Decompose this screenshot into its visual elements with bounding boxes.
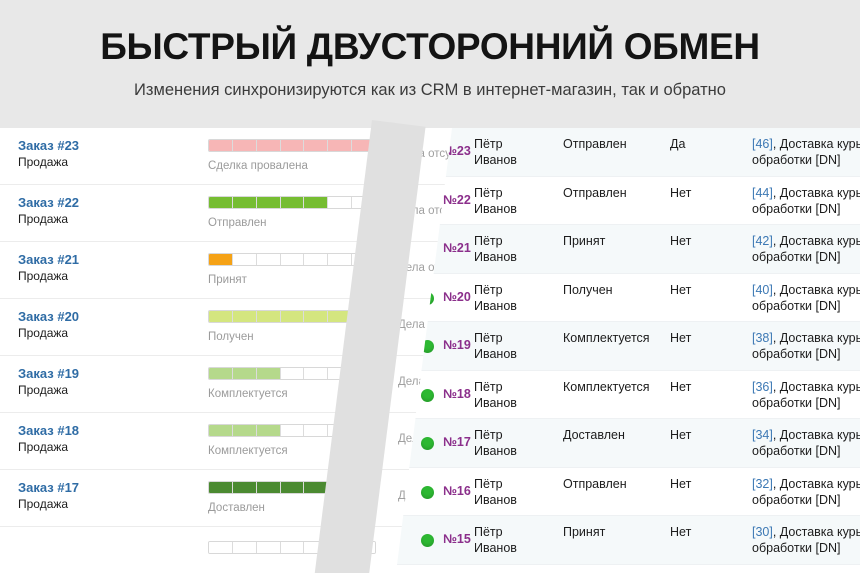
shop-order-customer: ПётрИванов <box>474 185 517 217</box>
customer-last-name: Иванов <box>474 347 517 361</box>
shop-order-paid: Нет <box>670 379 691 395</box>
crm-deal-type: Продажа <box>18 497 79 512</box>
delivery-line-2: обработки [DN] <box>752 540 860 556</box>
crm-stage-progress[interactable]: Сделка провалена <box>208 139 376 173</box>
customer-first-name: Пётр <box>474 428 503 442</box>
progress-segment <box>233 482 257 493</box>
progress-segment <box>304 425 328 436</box>
customer-first-name: Пётр <box>474 283 503 297</box>
shop-order-number[interactable]: №20 <box>443 290 471 305</box>
customer-first-name: Пётр <box>474 186 503 200</box>
progress-segment <box>304 140 328 151</box>
progress-segment <box>281 311 305 322</box>
progress-segment <box>233 140 257 151</box>
progress-segment <box>233 425 257 436</box>
delivery-index[interactable]: [38] <box>752 331 773 345</box>
shop-order-number[interactable]: №18 <box>443 387 471 402</box>
shop-order-number[interactable]: №16 <box>443 484 471 499</box>
shop-order-paid: Нет <box>670 524 691 540</box>
delivery-index[interactable]: [40] <box>752 283 773 297</box>
delivery-line-1: , Доставка курьером в течение 1 дня посл… <box>773 186 860 200</box>
progress-segment <box>328 254 352 265</box>
customer-last-name: Иванов <box>474 202 517 216</box>
delivery-line-2: обработки [DN] <box>752 492 860 508</box>
progress-segment <box>233 542 257 553</box>
delivery-index[interactable]: [34] <box>752 428 773 442</box>
customer-last-name: Иванов <box>474 153 517 167</box>
crm-deal-identity: Заказ #20Продажа <box>18 309 79 341</box>
delivery-line-1: , Доставка курьером в течение 1 дня посл… <box>773 283 860 297</box>
shop-order-number[interactable]: №22 <box>443 193 471 208</box>
progress-segment <box>304 311 328 322</box>
delivery-line-2: обработки [DN] <box>752 249 860 265</box>
delivery-line-1: , Доставка курьером в течение 1 дня посл… <box>773 380 860 394</box>
crm-deal-type: Продажа <box>18 440 79 455</box>
progress-segment <box>209 425 233 436</box>
order-status-dot-icon <box>421 437 434 450</box>
delivery-line-2: обработки [DN] <box>752 443 860 459</box>
progress-segment <box>281 542 305 553</box>
progress-segment <box>209 542 233 553</box>
delivery-index[interactable]: [30] <box>752 525 773 539</box>
page-title: БЫСТРЫЙ ДВУСТОРОННИЙ ОБМЕН <box>100 26 760 68</box>
crm-deal-identity: Заказ #22Продажа <box>18 195 79 227</box>
shop-order-paid: Нет <box>670 330 691 346</box>
order-status-dot-icon <box>421 534 434 547</box>
delivery-line-1: , Доставка курьером в течение 1 дня посл… <box>773 477 860 491</box>
crm-deal-row[interactable]: Заказ #19ПродажаКомплектуетсяДела отсутс… <box>0 356 470 413</box>
shop-order-status: Комплектуется <box>563 330 650 346</box>
shop-order-delivery: [32], Доставка курьером в течение 1 дня … <box>752 476 860 508</box>
progress-segment <box>233 311 257 322</box>
shop-order-delivery: [46], Доставка курьером в течение 1 дня … <box>752 136 860 168</box>
order-status-dot-icon <box>421 389 434 402</box>
crm-deal-link[interactable]: Заказ #22 <box>18 195 79 211</box>
customer-last-name: Иванов <box>474 299 517 313</box>
shop-order-customer: ПётрИванов <box>474 476 517 508</box>
customer-last-name: Иванов <box>474 444 517 458</box>
progress-segment <box>233 197 257 208</box>
progress-segment <box>281 254 305 265</box>
shop-order-delivery: [40], Доставка курьером в течение 1 дня … <box>752 282 860 314</box>
delivery-index[interactable]: [42] <box>752 234 773 248</box>
progress-segment <box>257 197 281 208</box>
crm-deal-link[interactable]: Заказ #18 <box>18 423 79 439</box>
crm-deal-link[interactable]: Заказ #23 <box>18 138 79 154</box>
crm-deal-identity: Заказ #18Продажа <box>18 423 79 455</box>
shop-order-status: Отправлен <box>563 185 627 201</box>
delivery-line-1: , Доставка курьером в течение 1 дня посл… <box>773 137 860 151</box>
shop-order-paid: Да <box>670 136 685 152</box>
delivery-line-2: обработки [DN] <box>752 395 860 411</box>
progress-bar <box>208 196 376 209</box>
page-subtitle: Изменения синхронизируются как из CRM в … <box>134 80 726 100</box>
progress-segment <box>257 542 281 553</box>
crm-deal-type: Продажа <box>18 155 79 170</box>
progress-segment <box>281 140 305 151</box>
delivery-index[interactable]: [46] <box>752 137 773 151</box>
shop-order-customer: ПётрИванов <box>474 379 517 411</box>
progress-segment <box>304 254 328 265</box>
customer-first-name: Пётр <box>474 477 503 491</box>
shop-order-delivery: [44], Доставка курьером в течение 1 дня … <box>752 185 860 217</box>
shop-order-customer: ПётрИванов <box>474 524 517 556</box>
delivery-line-1: , Доставка курьером в течение 1 дня посл… <box>773 234 860 248</box>
progress-bar <box>208 139 376 152</box>
shop-order-paid: Нет <box>670 233 691 249</box>
crm-deal-link[interactable]: Заказ #20 <box>18 309 79 325</box>
progress-segment <box>257 368 281 379</box>
shop-order-paid: Нет <box>670 427 691 443</box>
progress-segment <box>257 254 281 265</box>
crm-deal-row[interactable]: Заказ #18ПродажаКомплектуетсяДела отсутс… <box>0 413 470 470</box>
delivery-line-2: обработки [DN] <box>752 346 860 362</box>
delivery-line-1: , Доставка курьером в течение 1 дня посл… <box>773 428 860 442</box>
crm-deal-type: Продажа <box>18 383 79 398</box>
shop-order-customer: ПётрИванов <box>474 427 517 459</box>
progress-segment <box>209 311 233 322</box>
shop-order-paid: Нет <box>670 185 691 201</box>
progress-segment <box>233 254 257 265</box>
delivery-index[interactable]: [32] <box>752 477 773 491</box>
shop-order-number[interactable]: №21 <box>443 241 471 256</box>
screenshot-root: БЫСТРЫЙ ДВУСТОРОННИЙ ОБМЕН Изменения син… <box>0 0 860 573</box>
crm-deal-row[interactable]: Заказ #17ПродажаДоставленДела отсутствую… <box>0 470 470 527</box>
shop-order-customer: ПётрИванов <box>474 233 517 265</box>
progress-bar <box>208 253 376 266</box>
shop-order-status: Отправлен <box>563 136 627 152</box>
crm-deal-type: Продажа <box>18 269 79 284</box>
crm-deal-link[interactable]: Заказ #21 <box>18 252 79 268</box>
delivery-line-1: , Доставка курьером в течение 1 дня посл… <box>773 525 860 539</box>
shop-order-status: Комплектуется <box>563 379 650 395</box>
customer-last-name: Иванов <box>474 541 517 555</box>
crm-deal-identity: Заказ #21Продажа <box>18 252 79 284</box>
progress-segment <box>209 140 233 151</box>
shop-order-delivery: [34], Доставка курьером в течение 1 дня … <box>752 427 860 459</box>
promo-header: БЫСТРЫЙ ДВУСТОРОННИЙ ОБМЕН Изменения син… <box>0 0 860 128</box>
progress-segment <box>233 368 257 379</box>
crm-deal-type: Продажа <box>18 326 79 341</box>
progress-segment <box>257 482 281 493</box>
delivery-line-2: обработки [DN] <box>752 298 860 314</box>
customer-last-name: Иванов <box>474 250 517 264</box>
shop-order-delivery: [30], Доставка курьером в течение 1 дня … <box>752 524 860 556</box>
customer-first-name: Пётр <box>474 331 503 345</box>
crm-stage-label: Сделка провалена <box>208 159 376 173</box>
crm-deal-type: Продажа <box>18 212 79 227</box>
delivery-index[interactable]: [44] <box>752 186 773 200</box>
shop-order-customer: ПётрИванов <box>474 136 517 168</box>
progress-segment <box>304 368 328 379</box>
shop-order-delivery: [42], Доставка курьером в течение 1 дня … <box>752 233 860 265</box>
shop-order-status: Получен <box>563 282 613 298</box>
shop-order-number[interactable]: №17 <box>443 435 471 450</box>
crm-deal-identity: Заказ #19Продажа <box>18 366 79 398</box>
shop-order-customer: ПётрИванов <box>474 282 517 314</box>
progress-segment <box>209 197 233 208</box>
shop-order-status: Доставлен <box>563 427 625 443</box>
crm-deal-identity: Заказ #23Продажа <box>18 138 79 170</box>
shop-order-delivery: [36], Доставка курьером в течение 1 дня … <box>752 379 860 411</box>
progress-segment <box>328 140 352 151</box>
shop-order-number[interactable]: №19 <box>443 338 471 353</box>
delivery-line-2: обработки [DN] <box>752 152 860 168</box>
shop-order-number[interactable]: №15 <box>443 532 471 547</box>
progress-segment <box>304 197 328 208</box>
order-status-dot-icon <box>421 486 434 499</box>
shop-order-customer: ПётрИванов <box>474 330 517 362</box>
shop-order-status: Принят <box>563 233 605 249</box>
customer-first-name: Пётр <box>474 525 503 539</box>
progress-segment <box>257 311 281 322</box>
progress-segment <box>209 368 233 379</box>
progress-segment <box>281 482 305 493</box>
shop-order-status: Отправлен <box>563 476 627 492</box>
shop-order-status: Принят <box>563 524 605 540</box>
customer-last-name: Иванов <box>474 396 517 410</box>
delivery-line-2: обработки [DN] <box>752 201 860 217</box>
shop-order-paid: Нет <box>670 282 691 298</box>
shop-order-delivery: [38], Доставка курьером в течение 1 дня … <box>752 330 860 362</box>
progress-segment <box>257 425 281 436</box>
customer-first-name: Пётр <box>474 137 503 151</box>
shop-order-paid: Нет <box>670 476 691 492</box>
crm-deal-link[interactable]: Заказ #17 <box>18 480 79 496</box>
customer-first-name: Пётр <box>474 234 503 248</box>
delivery-index[interactable]: [36] <box>752 380 773 394</box>
progress-segment <box>209 482 233 493</box>
progress-segment <box>328 197 352 208</box>
delivery-line-1: , Доставка курьером в течение 1 дня посл… <box>773 331 860 345</box>
progress-segment <box>281 197 305 208</box>
crm-stage-progress[interactable]: Отправлен <box>208 196 376 230</box>
progress-segment <box>257 140 281 151</box>
progress-segment <box>209 254 233 265</box>
customer-last-name: Иванов <box>474 493 517 507</box>
crm-deal-link[interactable]: Заказ #19 <box>18 366 79 382</box>
progress-segment <box>281 425 305 436</box>
customer-first-name: Пётр <box>474 380 503 394</box>
crm-stage-label: Отправлен <box>208 216 376 230</box>
crm-deal-identity: Заказ #17Продажа <box>18 480 79 512</box>
progress-segment <box>281 368 305 379</box>
